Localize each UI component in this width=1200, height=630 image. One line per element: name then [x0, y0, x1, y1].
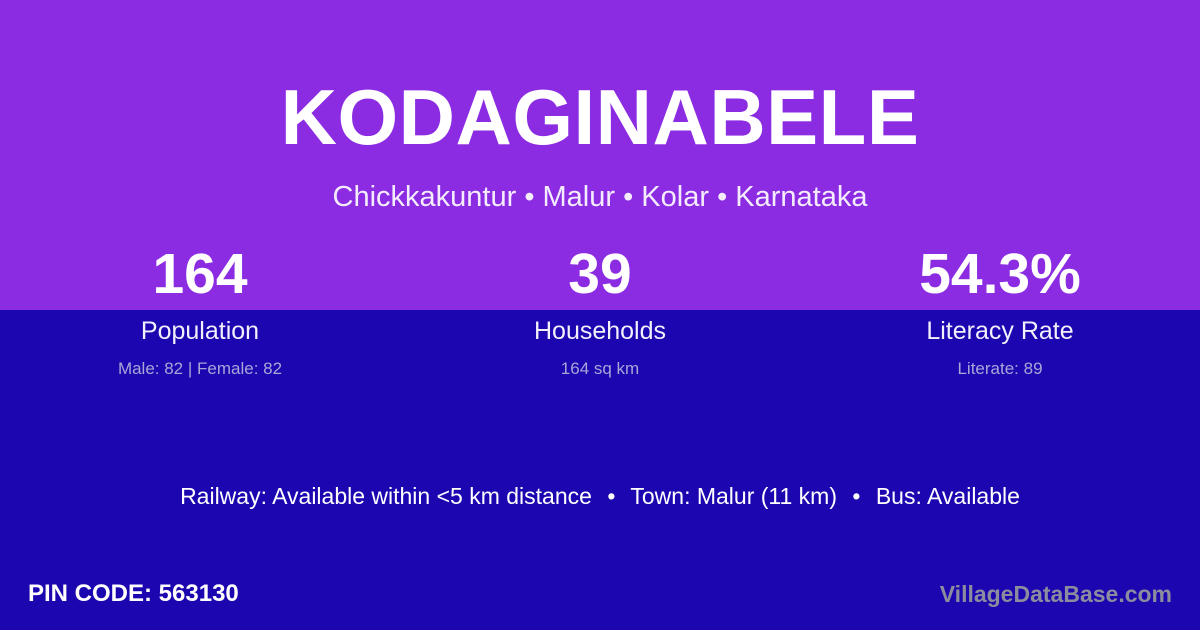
amenity-separator-2: • — [843, 485, 869, 508]
card-footer: PIN CODE: 563130 VillageDataBase.com — [0, 558, 1200, 630]
village-info-card: KODAGINABELE Chickkakuntur • Malur • Kol… — [0, 0, 1200, 630]
stat-label-households: Households — [534, 319, 666, 344]
amenity-separator-1: • — [598, 485, 624, 508]
amenity-railway: Railway: Available within <5 km distance — [180, 483, 592, 509]
stats-row: 164 Population Male: 82 | Female: 82 39 … — [0, 240, 1200, 377]
breadcrumb: Chickkakuntur • Malur • Kolar • Karnatak… — [333, 183, 868, 212]
stat-sub-households: 164 sq km — [561, 360, 639, 377]
amenity-town: Town: Malur (11 km) — [630, 483, 837, 509]
pin-code: PIN CODE: 563130 — [28, 582, 239, 606]
stat-label-population: Population — [141, 319, 259, 344]
stat-value-literacy-rate: 54.3% — [919, 240, 1081, 308]
page-title: KODAGINABELE — [281, 78, 920, 156]
stat-label-literacy-rate: Literacy Rate — [926, 319, 1073, 344]
amenity-bus: Bus: Available — [876, 483, 1020, 509]
stat-sub-population: Male: 82 | Female: 82 — [118, 360, 282, 377]
stat-value-households: 39 — [568, 240, 631, 308]
stat-population: 164 Population Male: 82 | Female: 82 — [0, 240, 400, 377]
stat-households: 39 Households 164 sq km — [400, 240, 800, 377]
card-header: KODAGINABELE Chickkakuntur • Malur • Kol… — [0, 0, 1200, 240]
stat-value-population: 164 — [152, 240, 247, 308]
stat-sub-literacy-rate: Literate: 89 — [957, 360, 1042, 377]
amenities-line: Railway: Available within <5 km distance… — [0, 485, 1200, 508]
stat-literacy-rate: 54.3% Literacy Rate Literate: 89 — [800, 240, 1200, 377]
brand-watermark: VillageDataBase.com — [940, 583, 1172, 606]
